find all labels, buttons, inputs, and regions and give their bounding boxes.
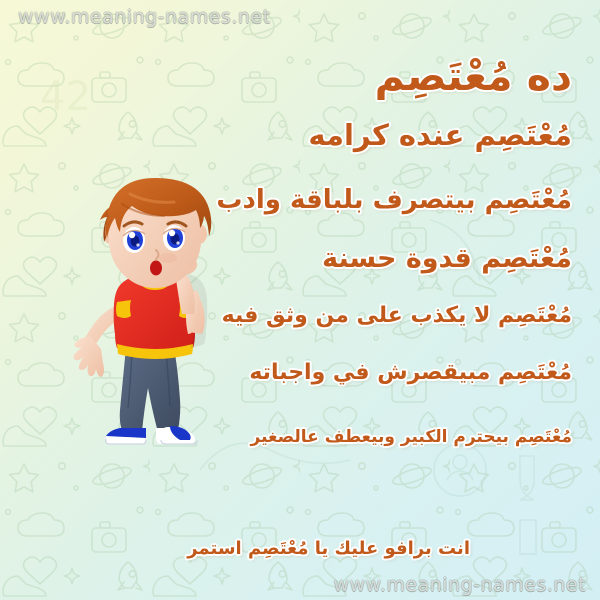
cartoon-boy-illustration (60, 176, 250, 446)
trait-line-5: مُعْتَصِم مبيقصرش في واجباته (249, 360, 572, 385)
legs (120, 348, 181, 432)
trait-line-2: مُعْتَصِم بيتصرف بلباقة وادب (216, 185, 572, 215)
mouth (150, 261, 162, 276)
trait-line-4: مُعْتَصِم لا يكذب على من وثق فيه (222, 303, 572, 328)
head (100, 178, 211, 288)
trait-line-6: مُعْتَصِم بيحترم الكبير وبيعطف عالصغير (251, 427, 572, 447)
trait-line-3: مُعْتَصِم قدوة حسنة (322, 243, 572, 274)
watermark-bottom: www.meaning-names.net (333, 574, 586, 596)
trait-line-1: مُعْتَصِم عنده كرامه (308, 118, 572, 152)
shoes (105, 426, 197, 444)
page-title: ده مُعْتَصِم (375, 52, 572, 100)
eye-right (163, 225, 185, 251)
footer-message: انت برافو عليك يا مُعْتَصِم استمر (187, 538, 470, 559)
name-meaning-card: 42 www.meaning-names.net ده مُعْتَصِم مُ… (0, 0, 600, 600)
eye-left (123, 227, 145, 253)
svg-text:42: 42 (40, 74, 91, 120)
watermark-top: www.meaning-names.net (18, 6, 271, 28)
open-hand (73, 336, 104, 377)
